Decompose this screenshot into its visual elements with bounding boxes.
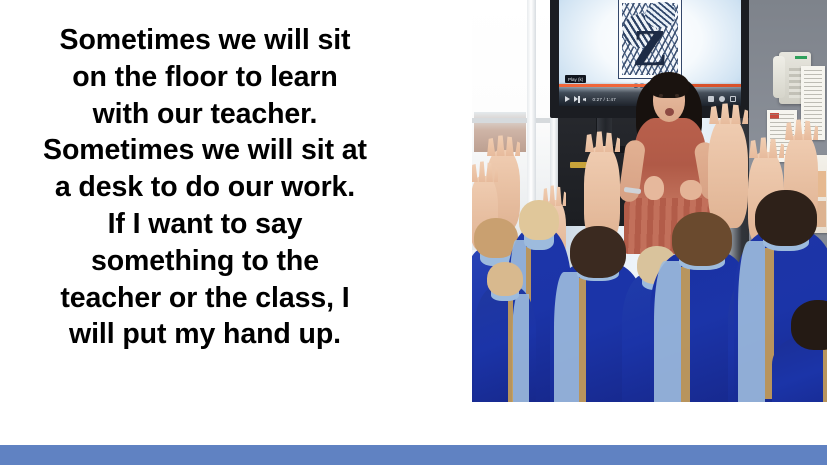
student-uniform bbox=[474, 286, 536, 402]
teacher-hand bbox=[644, 176, 664, 200]
telephone-indicator bbox=[795, 56, 807, 59]
student-head bbox=[755, 190, 817, 246]
uniform-accent-stripe bbox=[579, 278, 587, 402]
text-line-8: teacher or the class, I bbox=[12, 280, 398, 317]
teacher-eye bbox=[675, 94, 679, 97]
student-head bbox=[487, 262, 523, 296]
teacher-mouth bbox=[665, 108, 674, 116]
teacher-hair-top bbox=[649, 72, 689, 98]
window-sill bbox=[472, 118, 558, 123]
next-icon[interactable] bbox=[574, 96, 580, 103]
slide-canvas: Sometimes we will sit on the floor to le… bbox=[0, 0, 827, 465]
uniform-stripe bbox=[738, 241, 765, 402]
body-text-block: Sometimes we will sit on the floor to le… bbox=[12, 22, 398, 353]
text-line-2: on the floor to learn bbox=[12, 59, 398, 96]
video-timecode: 0:27 / 1:47 bbox=[593, 97, 616, 102]
text-line-4: Sometimes we will sit at bbox=[12, 132, 398, 169]
player-left-controls[interactable]: 0:27 / 1:47 bbox=[564, 96, 616, 103]
text-line-1: Sometimes we will sit bbox=[12, 22, 398, 59]
gear-icon[interactable] bbox=[719, 96, 725, 102]
uniform-accent-stripe bbox=[823, 344, 827, 402]
uniform-stripe bbox=[554, 272, 579, 402]
uniform-stripe bbox=[654, 261, 681, 402]
teacher-hand bbox=[680, 180, 702, 200]
classroom-photo: Z ZEBRA Play (k) 0:27 / 1:47 bbox=[472, 0, 827, 402]
uniform-accent-stripe bbox=[508, 299, 513, 402]
uniform-accent-stripe bbox=[681, 267, 689, 402]
play-icon[interactable] bbox=[564, 96, 570, 103]
play-tooltip: Play (k) bbox=[565, 75, 586, 83]
fullscreen-icon[interactable] bbox=[730, 96, 736, 102]
volume-icon[interactable] bbox=[583, 96, 589, 103]
text-line-5: a desk to do our work. bbox=[12, 169, 398, 206]
notice-sheet bbox=[801, 66, 825, 140]
student-figure bbox=[474, 262, 536, 402]
student-head bbox=[570, 226, 626, 278]
footer-accent-bar bbox=[0, 445, 827, 465]
telephone-handset bbox=[773, 56, 785, 98]
uniform-stripe bbox=[512, 294, 528, 402]
student-head bbox=[672, 212, 732, 266]
text-line-6: If I want to say bbox=[12, 206, 398, 243]
student-figure bbox=[772, 300, 827, 402]
text-line-7: something to the bbox=[12, 243, 398, 280]
teacher-eye bbox=[659, 94, 663, 97]
text-line-9: will put my hand up. bbox=[12, 316, 398, 353]
student-head bbox=[791, 300, 827, 350]
text-line-3: with our teacher. bbox=[12, 96, 398, 133]
